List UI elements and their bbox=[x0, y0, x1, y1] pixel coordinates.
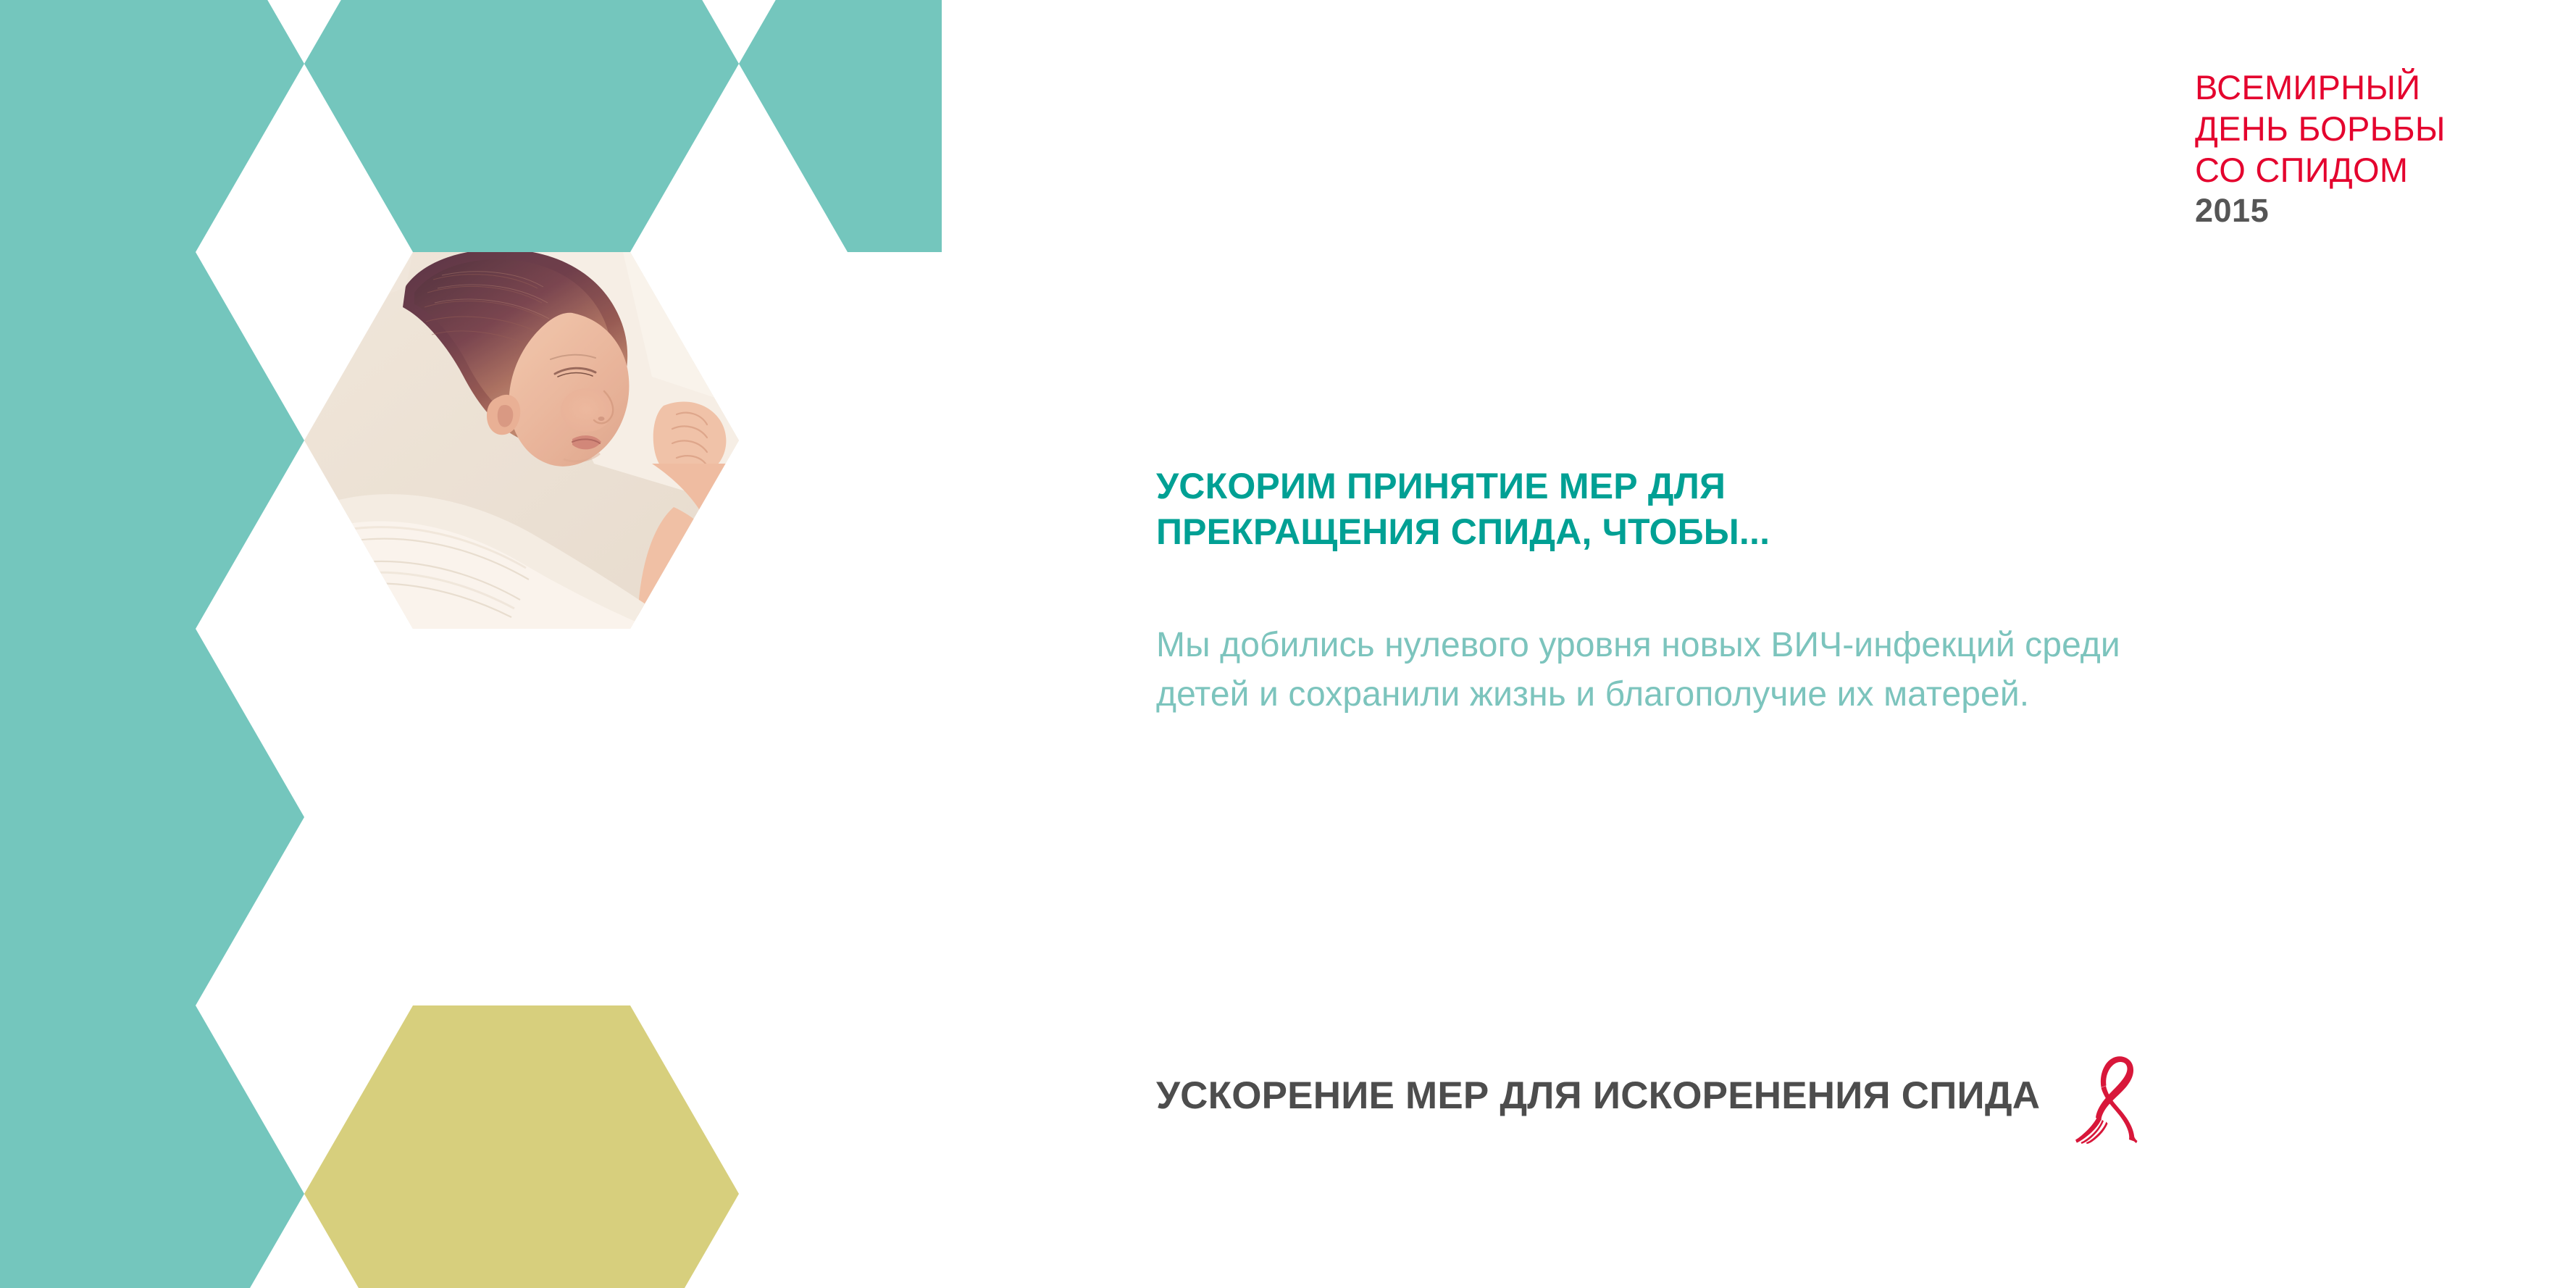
hexagon-mid-left-upper bbox=[0, 252, 304, 629]
baby-photo-hexagon bbox=[304, 249, 739, 629]
world-aids-day-logo: ВСЕМИРНЫЙ ДЕНЬ БОРЬБЫ СО СПИДОМ 2015 bbox=[2195, 67, 2506, 230]
page-headline: УСКОРИМ ПРИНЯТИЕ МЕР ДЛЯ ПРЕКРАЩЕНИЯ СПИ… bbox=[1156, 464, 2228, 555]
poster-canvas: ВСЕМИРНЫЙ ДЕНЬ БОРЬБЫ СО СПИДОМ 2015 УСК… bbox=[0, 0, 2576, 1288]
main-copy-block: УСКОРИМ ПРИНЯТИЕ МЕР ДЛЯ ПРЕКРАЩЕНИЯ СПИ… bbox=[1156, 464, 2228, 719]
hexagon-decoration-cluster bbox=[0, 0, 942, 1288]
body-paragraph: Мы добились нулевого уровня новых ВИЧ-ин… bbox=[1156, 621, 2192, 719]
logo-year: 2015 bbox=[2195, 192, 2506, 230]
campaign-tagline: УСКОРЕНИЕ МЕР ДЛЯ ИСКОРЕНЕНИЯ СПИДА bbox=[1156, 1073, 2040, 1119]
logo-line-1: ВСЕМИРНЫЙ bbox=[2195, 67, 2506, 108]
aids-ribbon-icon bbox=[2072, 1054, 2138, 1144]
logo-line-2: ДЕНЬ БОРЬБЫ bbox=[2195, 108, 2506, 149]
hexagon-bottom-yellow bbox=[304, 1005, 739, 1288]
hexagon-bottom-left bbox=[0, 1005, 304, 1288]
headline-line-1: УСКОРИМ ПРИНЯТИЕ МЕР ДЛЯ bbox=[1156, 466, 1726, 506]
hexagon-top-right bbox=[739, 0, 942, 252]
tagline-block: УСКОРЕНИЕ МЕР ДЛЯ ИСКОРЕНЕНИЯ СПИДА bbox=[1156, 1048, 2138, 1144]
logo-line-3: СО СПИДОМ bbox=[2195, 149, 2506, 191]
headline-line-2: ПРЕКРАЩЕНИЯ СПИДА, ЧТОБЫ... bbox=[1156, 511, 1770, 552]
hexagon-mid-left-lower bbox=[0, 629, 304, 1005]
hexagon-top-center bbox=[304, 0, 739, 252]
hexagon-top-left bbox=[0, 0, 304, 252]
